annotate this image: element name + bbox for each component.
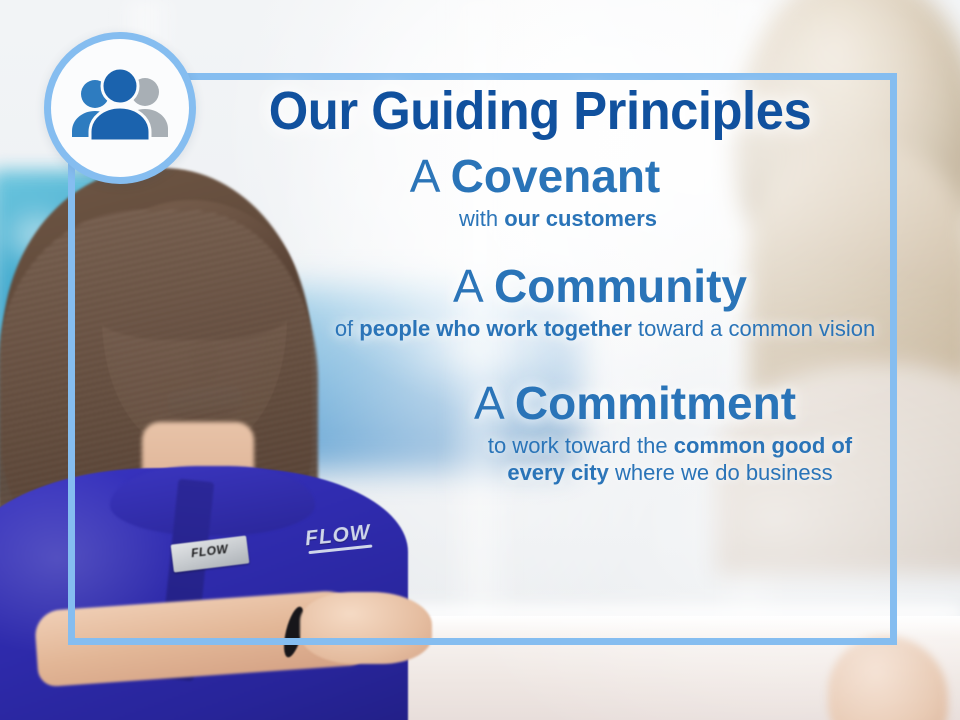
principle-community-article: A	[453, 260, 481, 312]
principle-community-subtitle: of people who work together toward a com…	[320, 315, 880, 343]
group-of-people-icon	[66, 69, 174, 147]
principle-covenant-subtitle: with our customers	[200, 205, 870, 233]
principle-covenant-noun: Covenant	[451, 150, 661, 202]
principle-commitment-noun: Commitment	[515, 377, 796, 429]
page-title: Our Guiding Principles	[220, 84, 859, 138]
name-badge-brand-label: FLOW	[171, 539, 248, 562]
principle-covenant-article: A	[410, 150, 438, 202]
guiding-principles-poster: FLOW FLOW Our Guiding Principles A	[0, 0, 960, 720]
principle-commitment-subtitle: to work toward the common good of every …	[390, 432, 880, 487]
group-of-people-badge	[44, 32, 196, 184]
principle-covenant-heading: A Covenant	[200, 152, 870, 201]
principle-community-heading: A Community	[320, 262, 880, 311]
principle-commitment-heading: A Commitment	[390, 379, 880, 428]
principle-community-noun: Community	[494, 260, 747, 312]
principle-commitment-article: A	[474, 377, 502, 429]
principle-commitment: A Commitment to work toward the common g…	[200, 379, 880, 487]
associate-hands	[300, 592, 432, 664]
principle-covenant: A Covenant with our customers	[200, 152, 880, 232]
principle-community: A Community of people who work together …	[200, 262, 880, 342]
poster-copy: Our Guiding Principles A Covenant with o…	[200, 84, 880, 487]
